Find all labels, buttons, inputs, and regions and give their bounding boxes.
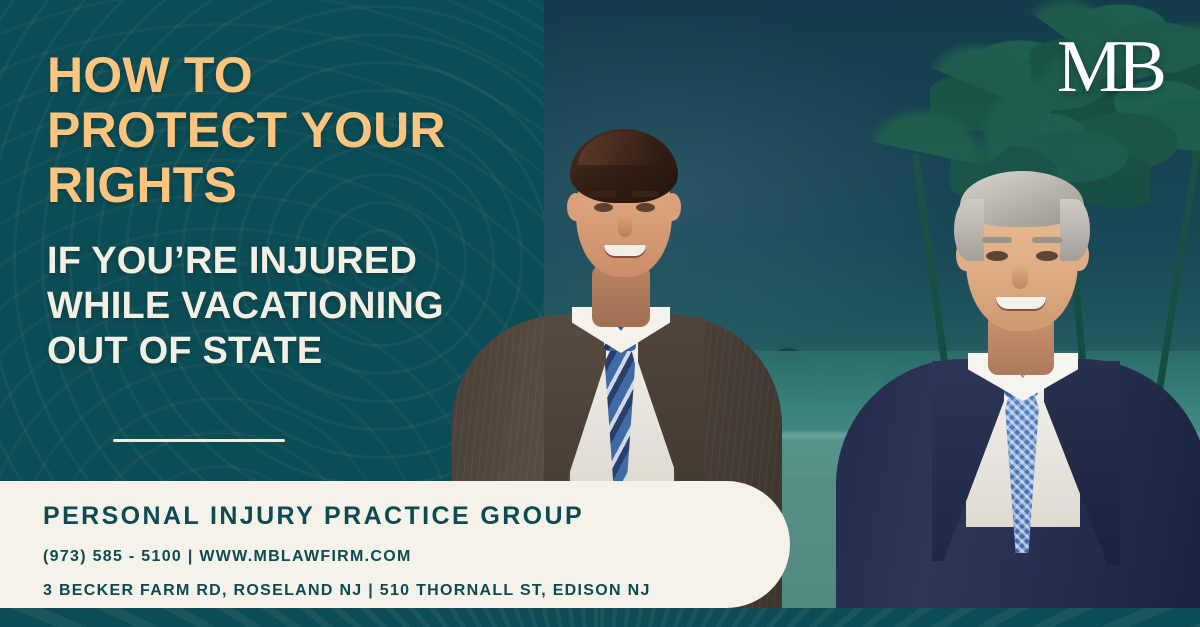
nose (618, 217, 632, 237)
eye-right (1036, 251, 1058, 261)
eyebrow-left (590, 191, 616, 197)
practice-group-title: PERSONAL INJURY PRACTICE GROUP (43, 501, 651, 531)
contact-line[interactable]: (973) 585 - 5100 | WWW.MBLAWFIRM.COM (43, 547, 651, 567)
hair-side-right (1060, 199, 1090, 261)
bottom-teal-strip (0, 608, 1200, 627)
footer-bar: PERSONAL INJURY PRACTICE GROUP (973) 585… (0, 481, 790, 608)
radial-ray-pattern (0, 608, 1200, 627)
mb-logo: MB (1057, 30, 1162, 104)
eye-right (636, 203, 655, 212)
address-line: 3 BECKER FARM RD, ROSELAND NJ | 510 THOR… (43, 581, 651, 601)
divider-rule (113, 439, 285, 442)
eyebrow-left (982, 237, 1012, 243)
ear-right (664, 193, 681, 221)
smile (604, 245, 646, 258)
eyebrow-right (632, 191, 658, 197)
eye-left (594, 203, 613, 212)
smile (996, 297, 1046, 311)
ad-creative: HOW TO PROTECT YOUR RIGHTS IF YOU’RE INJ… (0, 0, 1200, 627)
eyebrow-right (1032, 237, 1062, 243)
hair-part-sweep (578, 131, 672, 165)
nose (1012, 265, 1028, 289)
footer-content: PERSONAL INJURY PRACTICE GROUP (973) 585… (43, 501, 651, 601)
attorney-right-portrait (836, 127, 1200, 627)
eye-left (986, 251, 1008, 261)
ear-left (567, 193, 584, 221)
hair-side-left (954, 199, 984, 261)
